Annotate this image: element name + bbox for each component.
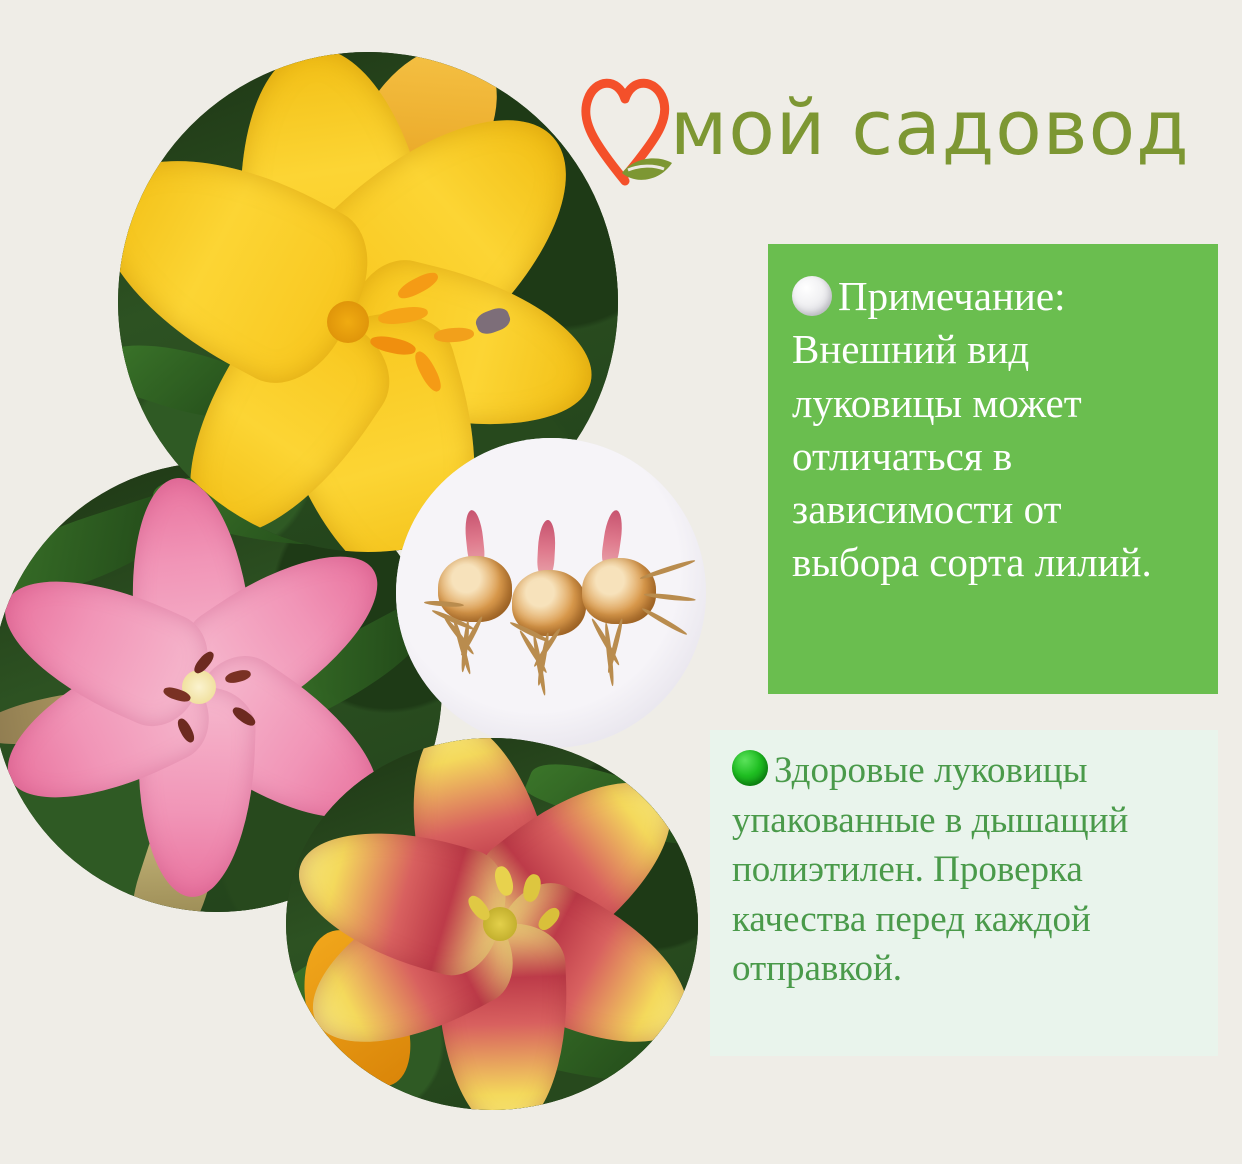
note-body: Внешний вид луковицы может отличаться в … (792, 326, 1152, 585)
note-panel-text: Примечание: Внешний вид луковицы может о… (792, 270, 1196, 590)
photo-red-yellow-lily (286, 738, 698, 1110)
note-panel: Примечание: Внешний вид луковицы может о… (768, 244, 1218, 694)
health-panel: Здоровые луковицы упакованные в дышащий … (710, 730, 1218, 1056)
brand-name: мой садовод (670, 90, 1190, 166)
health-panel-text: Здоровые луковицы упакованные в дышащий … (732, 746, 1204, 994)
brand-logo[interactable]: мой садовод (578, 62, 1224, 194)
green-circle-icon (732, 750, 768, 786)
health-body: Здоровые луковицы упакованные в дышащий … (732, 750, 1128, 989)
note-heading: Примечание: (838, 273, 1065, 319)
white-circle-icon (792, 276, 832, 316)
photo-lily-bulbs (396, 438, 706, 748)
promo-canvas: мой садовод (0, 0, 1242, 1164)
